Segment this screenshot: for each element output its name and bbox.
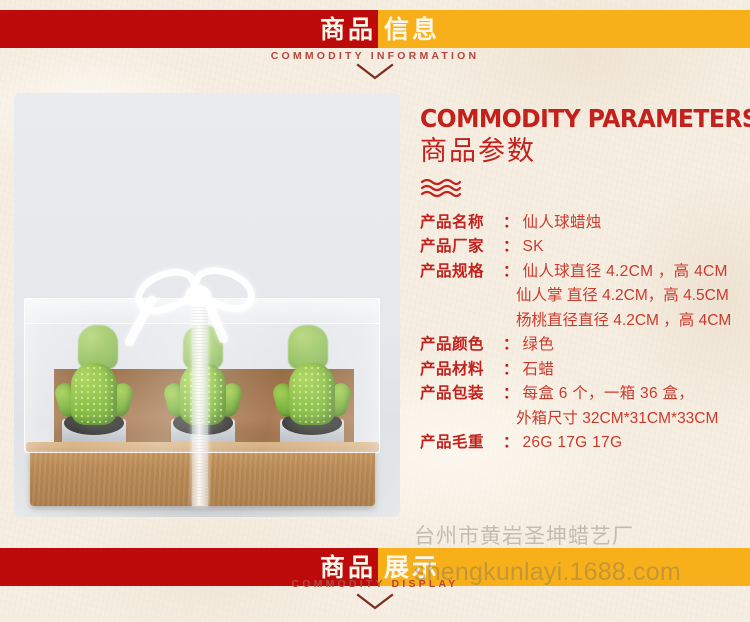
spec-label: 产品规格 bbox=[420, 260, 502, 285]
spec-label: 产品材料 bbox=[420, 358, 502, 383]
spec-row-gross-weight: 产品毛重 ： 26G 17G 17G bbox=[420, 431, 750, 456]
top-banner-title-cn-first: 商品 bbox=[320, 17, 376, 42]
spec-row-manufacturer: 产品厂家 ： SK bbox=[420, 235, 750, 260]
spec-row-specification: 产品规格 ： 仙人球直径 4.2CM ，高 4CM bbox=[420, 260, 750, 285]
spec-continuation-line: 仙人掌 直径 4.2CM，高 4.5CM bbox=[420, 284, 750, 309]
top-banner-red-half: 商品 bbox=[0, 10, 378, 48]
spec-row-packaging: 产品包装 ： 每盒 6 个，一箱 36 盒， bbox=[420, 382, 750, 407]
bottom-banner-title-cn-first: 商品 bbox=[320, 555, 376, 580]
top-banner-subtitle: COMMODITY INFORMATION bbox=[0, 50, 750, 62]
parameters-list: 产品名称 ： 仙人球蜡烛 产品厂家 ： SK 产品规格 ： 仙人球直径 4.2C… bbox=[420, 211, 750, 456]
top-banner-yellow-half: 信息 bbox=[378, 10, 750, 48]
spec-colon: ： bbox=[502, 333, 523, 358]
spec-colon: ： bbox=[502, 235, 523, 260]
spec-label: 产品名称 bbox=[420, 211, 502, 236]
spec-label: 产品厂家 bbox=[420, 235, 502, 260]
spec-row-color: 产品颜色 ： 绿色 bbox=[420, 333, 750, 358]
spec-row-product-name: 产品名称 ： 仙人球蜡烛 bbox=[420, 211, 750, 236]
spec-label: 产品颜色 bbox=[420, 333, 502, 358]
spec-continuation-line: 外箱尺寸 32CM*31CM*33CM bbox=[420, 407, 750, 432]
spec-value: 仙人球直径 4.2CM ，高 4CM bbox=[523, 260, 728, 285]
spec-colon: ： bbox=[502, 260, 523, 285]
parameters-title-chinese: 商品参数 bbox=[420, 137, 750, 167]
chevron-down-icon bbox=[0, 62, 750, 82]
spec-label: 产品包装 bbox=[420, 382, 502, 407]
product-photo[interactable] bbox=[14, 93, 400, 517]
wave-divider-icon bbox=[420, 177, 750, 199]
spec-value: 绿色 bbox=[523, 333, 555, 358]
ribbon-vertical bbox=[192, 298, 208, 506]
commodity-parameters-panel: COMMODITY PARAMETERS 商品参数 产品名称 ： 仙人球蜡烛 产… bbox=[420, 104, 750, 456]
spec-colon: ： bbox=[502, 382, 523, 407]
bottom-banner-subtitle: COMMODITY DISPLAY bbox=[0, 578, 750, 590]
product-photo-scene bbox=[14, 93, 400, 517]
top-section-banner: 商品 信息 bbox=[0, 10, 750, 48]
spec-row-material: 产品材料 ： 石蜡 bbox=[420, 358, 750, 383]
parameters-title-english: COMMODITY PARAMETERS bbox=[420, 104, 730, 133]
spec-colon: ： bbox=[502, 358, 523, 383]
bottom-banner-title-cn-second: 展示 bbox=[384, 555, 440, 580]
spec-value: 仙人球蜡烛 bbox=[523, 211, 602, 236]
spec-label: 产品毛重 bbox=[420, 431, 502, 456]
spec-colon: ： bbox=[502, 211, 523, 236]
top-banner-title-cn-second: 信息 bbox=[384, 17, 440, 42]
chevron-down-icon bbox=[0, 592, 750, 612]
spec-continuation-line: 杨桃直径直径 4.2CM ，高 4CM bbox=[420, 309, 750, 334]
spec-value: 石蜡 bbox=[523, 358, 555, 383]
spec-value: 每盒 6 个，一箱 36 盒， bbox=[523, 382, 695, 407]
spec-value: 26G 17G 17G bbox=[523, 431, 623, 456]
ribbon-bow-knot bbox=[185, 285, 211, 307]
spec-value: SK bbox=[523, 235, 544, 260]
spec-colon: ： bbox=[502, 431, 523, 456]
